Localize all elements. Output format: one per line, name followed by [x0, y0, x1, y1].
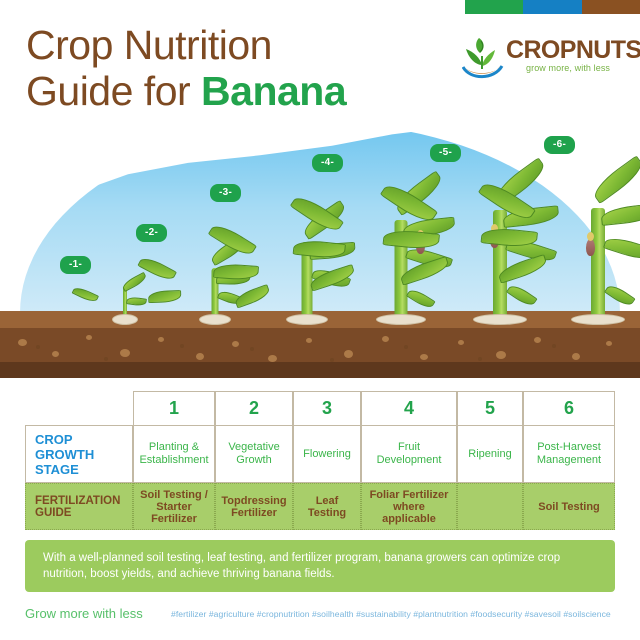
table-row-crop-growth-stage: CROP GROWTH STAGE Planting & Establishme…: [25, 425, 615, 483]
plant-stage-6: [534, 146, 640, 318]
fertilization-cell-4: Foliar Fertilizer where applicable: [361, 483, 457, 530]
fertilization-text-1: Soil Testing / Starter Fertilizer: [138, 489, 210, 525]
fertilization-text-2: Topdressing Fertilizer: [220, 495, 288, 519]
header: Crop Nutrition Guide for Banana CROPNUTS…: [0, 0, 640, 128]
stage-badge-1-label: -1-: [69, 259, 82, 270]
stage-badge-4: -4-: [312, 154, 343, 172]
cropnuts-logo: CROPNUTS grow more, with less: [462, 34, 634, 82]
table-row-fertilization-guide: FERTILIZATION GUIDE Soil Testing / Start…: [25, 483, 615, 530]
stage-number-1: 1: [169, 398, 179, 419]
stage-name-2: Vegetative Growth: [220, 441, 288, 467]
fertilization-text-3: Leaf Testing: [298, 495, 356, 519]
footer-hashtags: #fertilizer #agriculture #cropnutrition …: [171, 609, 611, 619]
fertilization-guide-label-line1: FERTILIZATION: [35, 495, 120, 507]
stage-name-3: Flowering: [303, 448, 351, 461]
table-row-numbers: 1 2 3 4 5 6: [25, 391, 615, 425]
stage-badge-2-label: -2-: [145, 227, 158, 238]
page-title-line1: Crop Nutrition: [26, 22, 272, 68]
stage-number-cell-4: 4: [361, 391, 457, 425]
fertilization-cell-6: Soil Testing: [523, 483, 615, 530]
stage-badge-3: -3-: [210, 184, 241, 202]
fertilization-cell-1: Soil Testing / Starter Fertilizer: [133, 483, 215, 530]
soil-bottom-layer: [0, 362, 640, 378]
sprout-in-water-logo-icon: [462, 36, 504, 80]
fertilization-cell-3: Leaf Testing: [293, 483, 361, 530]
stage-badge-6-label: -6-: [553, 139, 566, 150]
stage-badge-5: -5-: [430, 144, 461, 162]
stage-name-6: Post-Harvest Management: [528, 441, 610, 467]
stage-name-cell-5: Ripening: [457, 425, 523, 483]
stage-badge-6: -6-: [544, 136, 575, 154]
fertilization-cell-5: [457, 483, 523, 530]
page-title-line2-prefix: Guide for: [26, 68, 201, 114]
stage-badge-3-label: -3-: [219, 187, 232, 198]
fertilization-text-4: Foliar Fertilizer where applicable: [366, 489, 452, 525]
crop-growth-stage-label-line2: GROWTH: [35, 447, 94, 462]
stage-name-cell-6: Post-Harvest Management: [523, 425, 615, 483]
plant-stage-1: [95, 268, 155, 318]
stage-name-cell-4: Fruit Development: [361, 425, 457, 483]
fertilization-guide-label-line2: GUIDE: [35, 507, 71, 519]
page-title: Crop Nutrition Guide for Banana: [26, 22, 446, 114]
stage-number-4: 4: [404, 398, 414, 419]
logo-wordmark: CROPNUTS: [506, 36, 640, 65]
stage-badge-5-label: -5-: [439, 147, 452, 158]
soil-middle-layer: [0, 328, 640, 362]
stage-badge-2: -2-: [136, 224, 167, 242]
summary-text: With a well-planned soil testing, leaf t…: [43, 550, 597, 582]
stage-number-3: 3: [322, 398, 332, 419]
footer: Grow more with less #fertilizer #agricul…: [25, 604, 625, 626]
stage-number-cell-1: 1: [133, 391, 215, 425]
stage-number-cell-5: 5: [457, 391, 523, 425]
fertilization-guide-label: FERTILIZATION GUIDE: [25, 483, 133, 530]
crop-growth-stage-label-line1: CROP: [35, 432, 73, 447]
stage-number-6: 6: [564, 398, 574, 419]
stage-number-cell-6: 6: [523, 391, 615, 425]
stage-name-cell-3: Flowering: [293, 425, 361, 483]
stage-number-cell-3: 3: [293, 391, 361, 425]
crop-growth-stage-label: CROP GROWTH STAGE: [25, 425, 133, 483]
table-corner-cell: [25, 391, 133, 425]
page-title-highlight: Banana: [201, 68, 346, 114]
growth-stage-table: 1 2 3 4 5 6 CROP GROWTH STAGE Planting &…: [25, 391, 615, 530]
summary-box: With a well-planned soil testing, leaf t…: [25, 540, 615, 592]
stage-name-4: Fruit Development: [366, 441, 452, 467]
stage-name-1: Planting & Establishment: [138, 441, 210, 467]
footer-slogan: Grow more with less: [25, 606, 143, 621]
stage-badge-1: -1-: [60, 256, 91, 274]
stage-name-cell-1: Planting & Establishment: [133, 425, 215, 483]
growth-stage-illustration: -1- -2- -3-: [0, 128, 640, 378]
stage-number-2: 2: [249, 398, 259, 419]
banana-bunch-6: [586, 239, 595, 256]
crop-growth-stage-label-line3: STAGE: [35, 462, 79, 477]
stage-number-5: 5: [485, 398, 495, 419]
stage-badge-4-label: -4-: [321, 157, 334, 168]
page-title-line2: Guide for Banana: [26, 68, 446, 114]
fertilization-text-6: Soil Testing: [538, 501, 600, 513]
stage-name-cell-2: Vegetative Growth: [215, 425, 293, 483]
infographic-page: Crop Nutrition Guide for Banana CROPNUTS…: [0, 0, 640, 640]
fertilization-cell-2: Topdressing Fertilizer: [215, 483, 293, 530]
logo-tagline: grow more, with less: [526, 63, 610, 73]
stage-name-5: Ripening: [468, 448, 511, 461]
stage-number-cell-2: 2: [215, 391, 293, 425]
